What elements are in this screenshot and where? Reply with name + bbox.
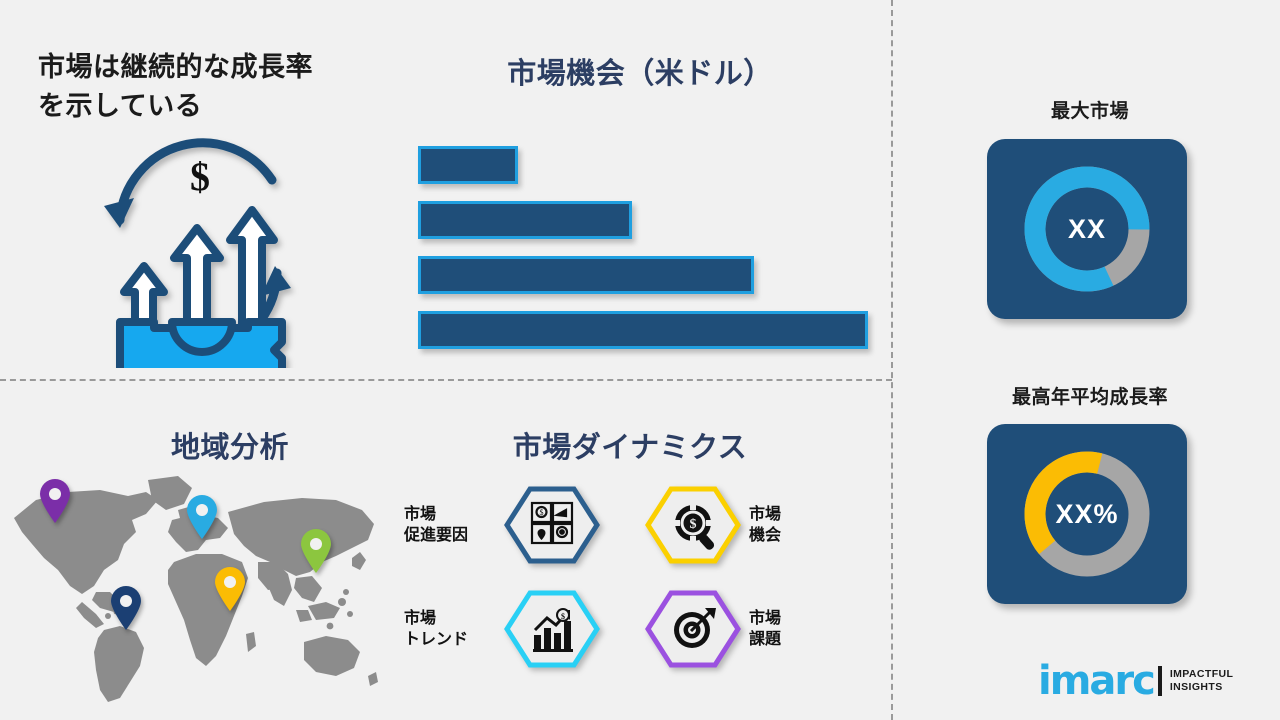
vertical-divider <box>891 0 893 720</box>
dynamics-item-challenges[interactable]: 市場 課題 <box>645 590 781 668</box>
imarc-logo[interactable]: imarc IMPACTFUL INSIGHTS <box>1038 658 1256 704</box>
dynamics-hex-challenges <box>645 590 741 668</box>
horizontal-divider <box>0 379 892 381</box>
opportunity-section-title: 市場機会（米ドル） <box>400 50 880 92</box>
dynamics-label-trends: 市場 トレンド <box>404 608 496 650</box>
dynamics-label-drivers: 市場 促進要因 <box>404 504 496 546</box>
market-dynamics-group: 市場 促進要因 $ <box>400 478 860 678</box>
logo-divider <box>1158 666 1162 696</box>
map-pin-middle-east <box>213 566 247 612</box>
dynamics-hex-drivers: $ <box>504 486 600 564</box>
svg-text:$: $ <box>690 517 697 532</box>
bar-row <box>418 201 632 239</box>
bar-row <box>418 146 518 184</box>
map-pin-east-asia <box>299 528 333 574</box>
growth-section-title: 市場は継続的な成長率 を示している <box>38 48 388 126</box>
dynamics-item-trends[interactable]: 市場 トレンド $ <box>404 590 600 668</box>
largest-market-card: XX <box>987 139 1187 319</box>
logo-tagline: IMPACTFUL INSIGHTS <box>1170 668 1233 694</box>
dynamics-label-challenges: 市場 課題 <box>749 608 781 650</box>
map-pin-north-america <box>38 478 72 524</box>
svg-text:$: $ <box>561 612 565 621</box>
slide-canvas: 市場は継続的な成長率 を示している $ 市場機会（米ドル <box>0 0 1280 720</box>
dynamics-item-opportunities[interactable]: $ 市場 機会 <box>645 486 781 564</box>
largest-market-donut <box>1021 152 1153 306</box>
bar-row <box>418 256 754 294</box>
highest-cagr-title: 最高年平均成長率 <box>930 382 1250 409</box>
highest-cagr-donut <box>1021 437 1153 591</box>
map-pin-europe <box>185 494 219 540</box>
map-pin-south-america <box>109 585 143 631</box>
dynamics-section-title: 市場ダイナミクス <box>400 424 860 466</box>
bar-row <box>418 311 868 349</box>
logo-wordmark: imarc <box>1038 661 1154 701</box>
world-map <box>0 466 396 706</box>
dynamics-label-opportunities: 市場 機会 <box>749 504 781 546</box>
dynamics-item-drivers[interactable]: 市場 促進要因 $ <box>404 486 600 564</box>
svg-text:$: $ <box>540 508 544 517</box>
dynamics-hex-trends: $ <box>504 590 600 668</box>
largest-market-title: 最大市場 <box>930 96 1250 123</box>
market-opportunity-bar-chart <box>418 146 878 346</box>
regional-section-title: 地域分析 <box>105 424 355 466</box>
dynamics-hex-opportunities: $ <box>645 486 741 564</box>
growth-cycle-icon: $ <box>72 128 322 368</box>
highest-cagr-card: XX% <box>987 424 1187 604</box>
dollar-symbol: $ <box>190 154 210 199</box>
